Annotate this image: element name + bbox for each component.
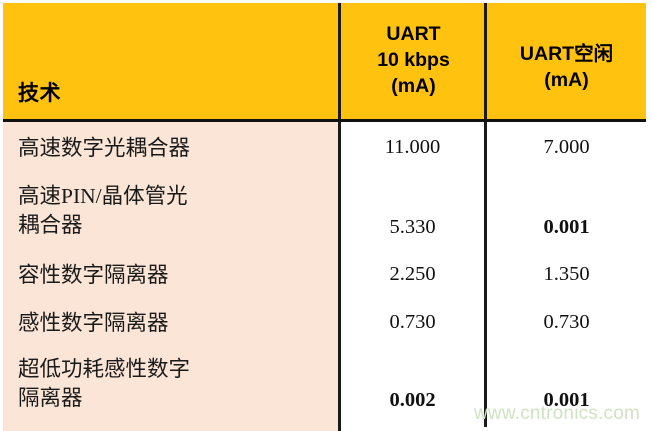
cell-uart-idle: 0.730	[487, 311, 646, 334]
header-column-divider-2	[484, 3, 487, 119]
row-label-line-2: 耦合器	[18, 211, 328, 240]
column-header-uart-10kbps-line-3: (mA)	[391, 74, 435, 100]
column-header-technology-label: 技术	[18, 77, 61, 107]
table-body: 高速数字光耦合器 11.000 7.000 高速PIN/晶体管光 耦合器 5.3…	[3, 122, 646, 431]
column-header-uart-10kbps: UART 10 kbps (mA)	[341, 3, 486, 119]
table-row: 高速PIN/晶体管光 耦合器 5.330 0.001	[3, 176, 646, 254]
table-header-row: 技术 UART 10 kbps (mA) UART空闲 (mA)	[3, 3, 646, 119]
table-row: 容性数字隔离器 2.250 1.350	[3, 254, 646, 302]
row-label: 高速PIN/晶体管光 耦合器	[18, 182, 328, 239]
column-header-uart-10kbps-line-2: 10 kbps	[377, 48, 450, 74]
header-column-divider-1	[338, 3, 341, 119]
table-row: 感性数字隔离器 0.730 0.730	[3, 302, 646, 350]
cell-uart-10kbps: 0.730	[341, 311, 484, 334]
row-label: 感性数字隔离器	[18, 309, 328, 338]
row-label-line-1: 高速数字光耦合器	[18, 134, 328, 163]
cell-uart-idle: 0.001	[487, 216, 646, 239]
cell-uart-idle: 1.350	[487, 263, 646, 286]
column-header-uart-idle: UART空闲 (mA)	[487, 3, 646, 119]
row-label-line-2: 隔离器	[18, 384, 328, 413]
cell-uart-idle: 7.000	[487, 136, 646, 159]
technology-comparison-table: 技术 UART 10 kbps (mA) UART空闲 (mA)	[3, 3, 646, 431]
table-row: 高速数字光耦合器 11.000 7.000	[3, 122, 646, 176]
column-header-uart-idle-line-1: UART空闲	[520, 42, 613, 68]
row-label-line-1: 高速PIN/晶体管光	[18, 182, 328, 211]
cell-uart-10kbps: 11.000	[341, 136, 484, 159]
row-label-line-1: 容性数字隔离器	[18, 261, 328, 290]
column-header-technology: 技术	[18, 3, 318, 119]
cell-uart-10kbps: 0.002	[341, 389, 484, 412]
column-header-uart-idle-line-2: (mA)	[544, 68, 588, 94]
row-label-line-1: 超低功耗感性数字	[18, 355, 328, 384]
row-label-line-1: 感性数字隔离器	[18, 309, 328, 338]
row-label: 容性数字隔离器	[18, 261, 328, 290]
column-header-uart-10kbps-line-1: UART	[386, 22, 440, 48]
row-label: 超低功耗感性数字 隔离器	[18, 355, 328, 412]
row-label: 高速数字光耦合器	[18, 134, 328, 163]
site-watermark: www.cntronics.com	[474, 403, 640, 425]
cell-uart-10kbps: 2.250	[341, 263, 484, 286]
screenshot-root: 技术 UART 10 kbps (mA) UART空闲 (mA)	[0, 0, 652, 431]
cell-uart-10kbps: 5.330	[341, 216, 484, 239]
